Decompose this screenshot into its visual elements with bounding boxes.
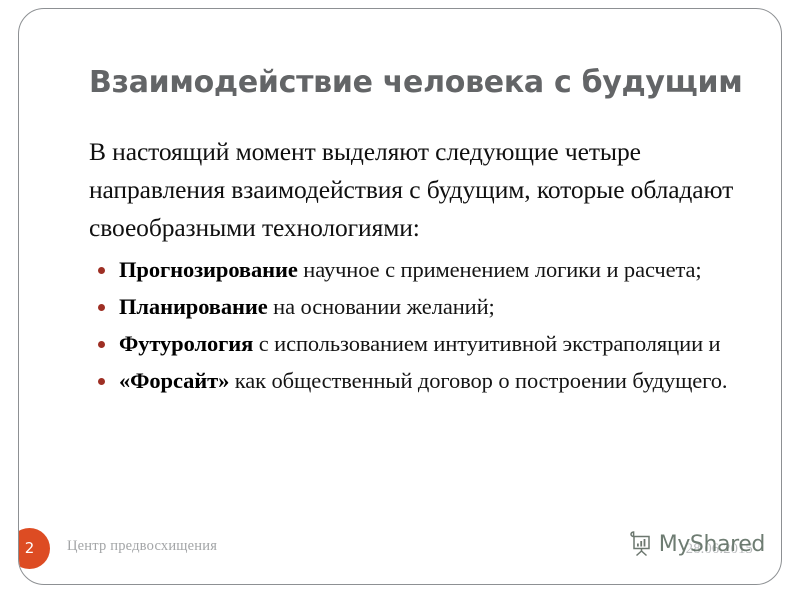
list-item-description: как общественный договор о построении бу… [229,368,727,393]
bullet-list: Прогнозирование научное с применением ло… [89,253,749,398]
slide-footer: 2 Центр предвосхищения 28.06.2015 [19,522,782,584]
list-item: «Форсайт» как общественный договор о пос… [89,364,749,398]
list-item: Футурология с использованием интуитивной… [89,327,749,361]
list-item-description: на основании желаний; [268,294,495,319]
list-item: Планирование на основании желаний; [89,290,749,324]
footer-organization: Центр предвосхищения [67,538,217,555]
lead-paragraph: В настоящий момент выделяют следующие че… [89,133,749,247]
list-item-term: Прогнозирование [119,257,298,282]
slide-body: В настоящий момент выделяют следующие че… [89,133,749,401]
presentation-slide: Взаимодействие человека с будущим В наст… [18,8,782,585]
list-item-term: «Форсайт» [119,368,229,393]
list-item-description: с использованием интуитивной экстраполяц… [253,331,720,356]
presentation-chart-icon [628,531,654,557]
list-item-term: Футурология [119,331,253,356]
list-item-term: Планирование [119,294,268,319]
page-title: Взаимодействие человека с будущим [89,65,769,101]
myshared-watermark: MyShared [628,531,765,557]
list-item-description: научное с применением логики и расчета; [298,257,702,282]
status-badge: 2 [18,528,50,569]
list-item: Прогнозирование научное с применением ло… [89,253,749,287]
watermark-label: MyShared [659,532,765,557]
